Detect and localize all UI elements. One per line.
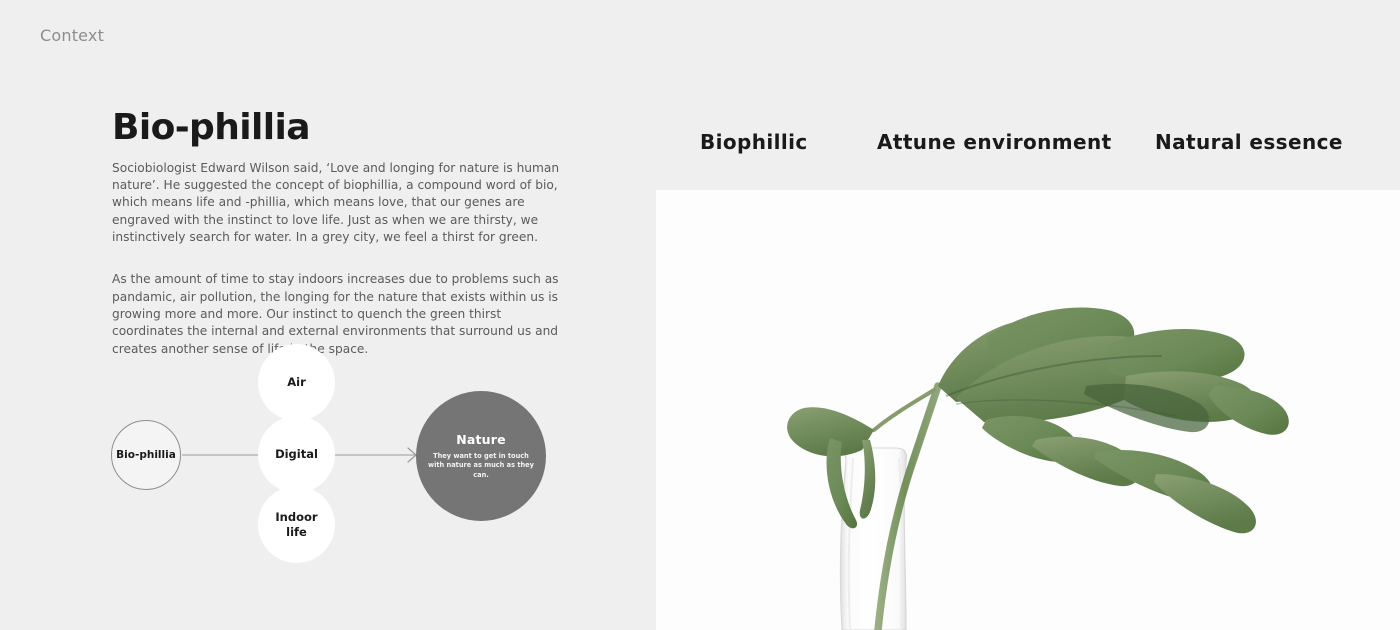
intro-paragraph-1: Sociobiologist Edward Wilson said, ‘Love… [112,160,574,247]
diagram-node-source[interactable]: Bio-phillia [111,420,181,490]
diagram-node-air[interactable]: Air [258,344,335,421]
monstera-leaf-photo [656,190,1400,630]
plant-photo-panel [656,190,1400,630]
keyword-heading-biophillic: Biophillic [700,130,808,154]
diagram-node-nature-title: Nature [456,432,506,447]
keyword-heading-row: Biophillic Attune environment Natural es… [656,130,1400,170]
diagram-node-digital[interactable]: Digital [258,416,335,493]
diagram-node-nature-subtitle: They want to get in touch with nature as… [425,452,537,481]
intro-text-block: Bio-phillia Sociobiologist Edward Wilson… [112,108,582,358]
diagram-node-indoor-life[interactable]: Indoor life [258,486,335,563]
keyword-heading-natural-essence: Natural essence [1155,130,1343,154]
diagram-node-digital-label: Digital [275,447,318,461]
diagram-node-nature[interactable]: Nature They want to get in touch with na… [416,391,546,521]
section-label: Context [40,26,104,45]
diagram-node-indoor-life-label: Indoor life [271,510,323,538]
biophillia-diagram: Bio-phillia Air Digital Indoor life Natu… [95,338,595,578]
diagram-node-source-label: Bio-phillia [116,449,176,461]
page-title: Bio-phillia [112,108,582,148]
diagram-node-air-label: Air [287,375,306,389]
keyword-heading-attune-environment: Attune environment [877,130,1112,154]
